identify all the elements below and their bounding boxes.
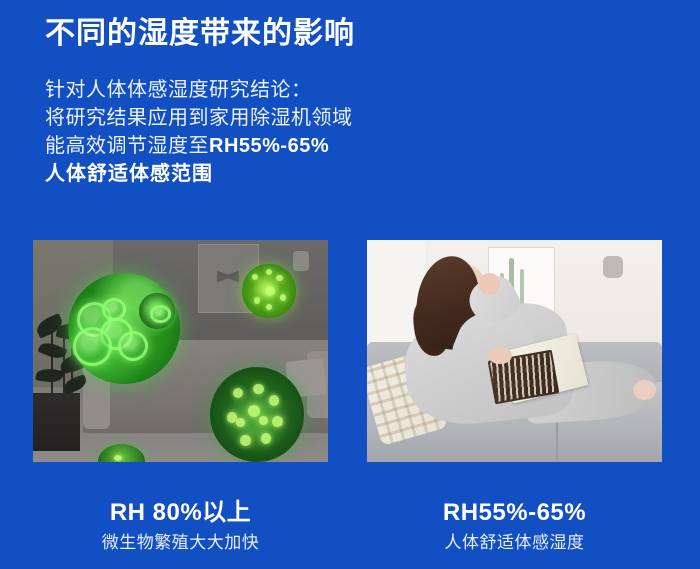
microbe-spike [254,297,260,303]
plant-pot [33,393,80,451]
caption-high-humidity: RH 80%以上 微生物繁殖大大加快 [33,498,328,556]
microbe-spike [114,455,122,461]
microbe-cell [150,305,171,322]
scene-dark-living-room [33,240,328,462]
page-title: 不同的湿度带来的影响 [45,14,355,54]
woman-hand [479,273,500,295]
microbe-spike [259,416,267,425]
microbe-cell [118,331,149,361]
intro-humidity-range: RH55%-65% [209,135,329,157]
microbe-spike [272,416,282,426]
caption-main: RH 80%以上 [33,498,328,528]
intro-line-1: 针对人体体感湿度研究结论： [45,76,353,104]
microbe-cluster-edge [139,293,174,329]
microbe-spike [266,269,272,275]
woman-hand-holding-book [488,347,512,365]
microbe-cell [102,298,126,322]
slide-root: 不同的湿度带来的影响 针对人体体感湿度研究结论： 将研究结果应用到家用除湿机领域… [0,0,700,569]
intro-line-3-prefix: 能高效调节湿度至 [45,135,209,157]
microbe-core [248,405,260,417]
woman-foot [633,380,657,400]
microbe-spike [253,384,263,394]
wall-knob-icon [603,256,623,278]
microbe-spike [276,275,282,281]
microbe-spike [233,388,243,398]
microbe-spike [266,304,272,310]
plant-stem [51,329,53,400]
wall-knob-icon [293,251,309,271]
microbe-cluster-foreground [210,367,304,462]
intro-line-2: 将研究结果应用到家用除湿机领域 [45,104,353,132]
microbe-spike [269,395,279,405]
microbe-spike [252,274,258,280]
caption-comfort-humidity: RH55%-65% 人体舒适体感湿度 [367,498,662,556]
microbe-cluster-wall [242,264,295,317]
caption-sub: 微生物繁殖大大加快 [33,530,328,556]
photo-comfort-humidity [367,240,662,462]
microbe-spike [280,294,286,300]
caption-main: RH55%-65% [367,498,662,528]
microbe-spike [236,418,244,427]
intro-line-3: 能高效调节湿度至RH55%-65% [45,132,353,160]
microbe-spike [261,433,271,443]
intro-line-4: 人体舒适体感范围 [45,160,353,188]
caption-sub: 人体舒适体感湿度 [367,530,662,556]
microbe-cell [73,327,113,366]
microbe-spike [240,435,250,445]
microbe-core [265,286,276,297]
photo-high-humidity [33,240,328,462]
scene-bright-living-room [367,240,662,462]
intro-paragraph: 针对人体体感湿度研究结论： 将研究结果应用到家用除湿机领域 能高效调节湿度至RH… [45,76,353,188]
microbe-cluster-large [68,273,180,384]
